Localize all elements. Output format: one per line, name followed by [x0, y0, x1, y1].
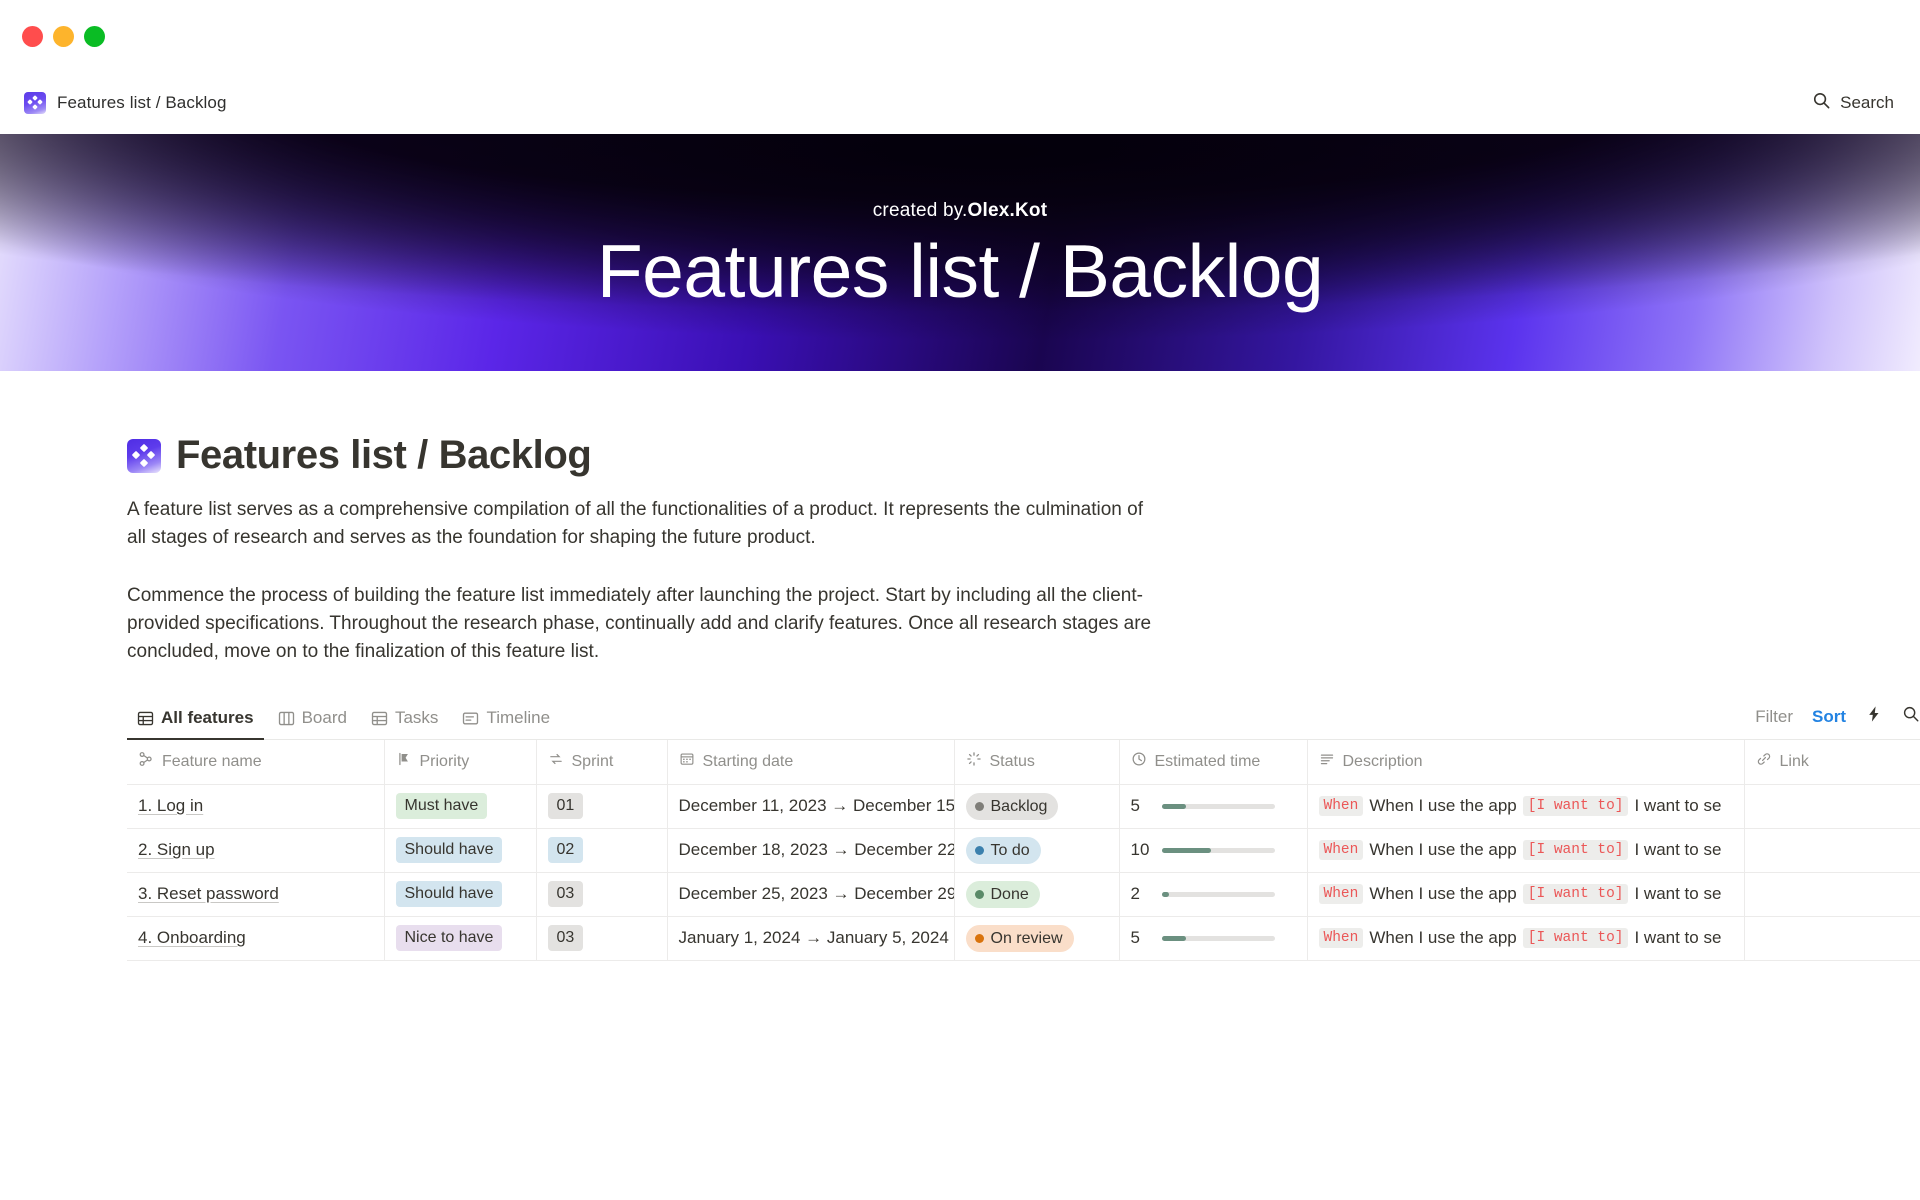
sprint-tag: 03: [548, 881, 584, 907]
cell-priority[interactable]: Should have: [384, 872, 536, 916]
topbar-search-button[interactable]: Search: [1812, 91, 1894, 115]
banner-title: Features list / Backlog: [597, 232, 1323, 311]
text-icon: [1319, 751, 1335, 772]
estimate-progress-bar: [1162, 936, 1275, 941]
cell-feature-name[interactable]: 1. Log in: [127, 784, 384, 828]
status-label: Backlog: [991, 796, 1048, 817]
status-badge: Backlog: [966, 793, 1059, 820]
priority-tag: Should have: [396, 881, 503, 907]
description-text-2: I want to se: [1634, 796, 1721, 816]
breadcrumb[interactable]: Features list / Backlog: [24, 92, 227, 114]
cell-link[interactable]: [1744, 784, 1920, 828]
column-header-label: Starting date: [703, 753, 794, 771]
description-text-2: I want to se: [1634, 840, 1721, 860]
priority-tag: Nice to have: [396, 925, 503, 951]
cell-feature-name[interactable]: 2. Sign up: [127, 828, 384, 872]
column-header-label: Sprint: [572, 753, 614, 771]
flag-icon: [396, 751, 412, 772]
priority-tag: Should have: [396, 837, 503, 863]
description-text-1: When I use the app: [1369, 796, 1516, 816]
status-label: Done: [991, 884, 1029, 905]
page-title: Features list / Backlog: [176, 433, 591, 478]
search-icon[interactable]: [1902, 705, 1920, 728]
table-header-row: Feature name Priority: [127, 740, 1920, 784]
table-row[interactable]: 2. Sign up Should have 02 December 18, 2…: [127, 828, 1920, 872]
cell-starting-date[interactable]: December 25, 2023 → December 29, 2023: [667, 872, 954, 916]
cell-status[interactable]: On review: [954, 916, 1119, 960]
window-titlebar: [0, 0, 1920, 72]
status-badge: To do: [966, 837, 1041, 864]
tab-label: All features: [161, 708, 254, 728]
clock-icon: [1131, 751, 1147, 772]
description-tag-i-want-to: [I want to]: [1523, 928, 1629, 948]
description-tag-i-want-to: [I want to]: [1523, 840, 1629, 860]
traffic-lights: [22, 26, 105, 47]
feature-name-link[interactable]: 1. Log in: [138, 796, 203, 815]
cell-sprint[interactable]: 01: [536, 784, 667, 828]
estimate-value: 2: [1131, 884, 1153, 904]
column-header-label: Description: [1343, 753, 1423, 771]
tab-label: Timeline: [486, 708, 550, 728]
close-window-button[interactable]: [22, 26, 43, 47]
column-header-label: Feature name: [162, 753, 262, 771]
cell-status[interactable]: Done: [954, 872, 1119, 916]
status-dot: [975, 934, 984, 943]
repeat-icon: [548, 751, 564, 772]
feature-name-link[interactable]: 4. Onboarding: [138, 928, 246, 947]
cell-estimated-time[interactable]: 10: [1119, 828, 1307, 872]
estimate-progress-bar: [1162, 804, 1275, 809]
cell-estimated-time[interactable]: 2: [1119, 872, 1307, 916]
cell-estimated-time[interactable]: 5: [1119, 916, 1307, 960]
estimate-value: 10: [1131, 840, 1153, 860]
cell-description[interactable]: When When I use the app [I want to] I wa…: [1307, 784, 1744, 828]
sort-button[interactable]: Sort: [1812, 707, 1846, 727]
description-tag-i-want-to: [I want to]: [1523, 796, 1629, 816]
description-text-1: When I use the app: [1369, 840, 1516, 860]
column-header-starting-date[interactable]: Starting date: [667, 740, 954, 784]
banner-credit-prefix: created by.: [873, 200, 968, 221]
column-header-sprint[interactable]: Sprint: [536, 740, 667, 784]
description-tag-i-want-to: [I want to]: [1523, 884, 1629, 904]
page-title-row: Features list / Backlog: [127, 433, 1920, 478]
cell-priority[interactable]: Nice to have: [384, 916, 536, 960]
status-label: On review: [991, 928, 1063, 949]
tab-label: Board: [302, 708, 347, 728]
link-icon: [1756, 751, 1772, 772]
priority-tag: Must have: [396, 793, 488, 819]
table-row[interactable]: 4. Onboarding Nice to have 03 January 1,…: [127, 916, 1920, 960]
estimate-progress-bar: [1162, 892, 1275, 897]
cell-description[interactable]: When When I use the app [I want to] I wa…: [1307, 828, 1744, 872]
cell-status[interactable]: Backlog: [954, 784, 1119, 828]
estimate-value: 5: [1131, 928, 1153, 948]
status-badge: On review: [966, 925, 1074, 952]
cell-status[interactable]: To do: [954, 828, 1119, 872]
date-range: December 18, 2023 → December 22, 2023: [679, 840, 955, 859]
sprint-tag: 02: [548, 837, 584, 863]
cell-priority[interactable]: Should have: [384, 828, 536, 872]
description-text-1: When I use the app: [1369, 884, 1516, 904]
status-label: To do: [991, 840, 1030, 861]
page-content: Features list / Backlog A feature list s…: [0, 433, 1920, 961]
column-header-description[interactable]: Description: [1307, 740, 1744, 784]
features-list-icon: [127, 439, 161, 473]
estimate-value: 5: [1131, 796, 1153, 816]
column-header-status[interactable]: Status: [954, 740, 1119, 784]
search-label: Search: [1840, 93, 1894, 113]
feature-name-link[interactable]: 2. Sign up: [138, 840, 215, 859]
date-range: January 1, 2024 → January 5, 2024: [679, 928, 949, 947]
column-header-link[interactable]: Link: [1744, 740, 1920, 784]
sprint-tag: 03: [548, 925, 584, 951]
tab-timeline[interactable]: Timeline: [452, 702, 560, 739]
table-row[interactable]: 1. Log in Must have 01 December 11, 2023…: [127, 784, 1920, 828]
page-paragraph-2: Commence the process of building the fea…: [127, 582, 1152, 666]
description-tag-when: When: [1319, 884, 1364, 904]
column-header-label: Estimated time: [1155, 753, 1261, 771]
cell-sprint[interactable]: 03: [536, 916, 667, 960]
view-actions: Filter Sort: [1755, 705, 1920, 739]
cell-feature-name[interactable]: 3. Reset password: [127, 872, 384, 916]
cell-starting-date[interactable]: January 1, 2024 → January 5, 2024: [667, 916, 954, 960]
maximize-window-button[interactable]: [84, 26, 105, 47]
search-icon: [1812, 91, 1831, 115]
description-tag-when: When: [1319, 840, 1364, 860]
cell-sprint[interactable]: 02: [536, 828, 667, 872]
column-header-label: Status: [990, 753, 1035, 771]
table-row[interactable]: 3. Reset password Should have 03 Decembe…: [127, 872, 1920, 916]
cover-banner: created by.Olex.Kot Features list / Back…: [0, 134, 1920, 371]
tab-all-features[interactable]: All features: [127, 702, 264, 739]
calendar-icon: [679, 751, 695, 772]
minimize-window-button[interactable]: [53, 26, 74, 47]
status-dot: [975, 890, 984, 899]
cell-estimated-time[interactable]: 5: [1119, 784, 1307, 828]
column-header-priority[interactable]: Priority: [384, 740, 536, 784]
cell-starting-date[interactable]: December 11, 2023 → December 15, 2023: [667, 784, 954, 828]
tab-board[interactable]: Board: [268, 702, 357, 739]
board-icon: [278, 710, 295, 727]
column-header-label: Link: [1780, 753, 1809, 771]
features-table: Feature name Priority: [127, 740, 1920, 961]
cell-priority[interactable]: Must have: [384, 784, 536, 828]
status-icon: [966, 751, 982, 772]
cell-link[interactable]: [1744, 872, 1920, 916]
estimate-progress-bar: [1162, 848, 1275, 853]
date-range: December 25, 2023 → December 29, 2023: [679, 884, 955, 903]
column-header-label: Priority: [420, 753, 470, 771]
status-dot: [975, 802, 984, 811]
lightning-icon[interactable]: [1865, 705, 1883, 728]
filter-button[interactable]: Filter: [1755, 707, 1793, 727]
breadcrumb-label: Features list / Backlog: [57, 93, 227, 113]
status-dot: [975, 846, 984, 855]
cell-sprint[interactable]: 03: [536, 872, 667, 916]
description-text-2: I want to se: [1634, 884, 1721, 904]
table-icon: [137, 710, 154, 727]
tab-label: Tasks: [395, 708, 438, 728]
banner-credit-author: Olex.Kot: [968, 200, 1048, 221]
cell-description[interactable]: When When I use the app [I want to] I wa…: [1307, 916, 1744, 960]
description-text-1: When I use the app: [1369, 928, 1516, 948]
database-view-bar: All features Board: [127, 702, 1920, 740]
description-tag-when: When: [1319, 928, 1364, 948]
cell-starting-date[interactable]: December 18, 2023 → December 22, 2023: [667, 828, 954, 872]
column-header-feature-name[interactable]: Feature name: [127, 740, 384, 784]
column-header-estimated-time[interactable]: Estimated time: [1119, 740, 1307, 784]
page-paragraph-1: A feature list serves as a comprehensive…: [127, 496, 1152, 552]
cell-feature-name[interactable]: 4. Onboarding: [127, 916, 384, 960]
sprint-tag: 01: [548, 793, 584, 819]
status-badge: Done: [966, 881, 1040, 908]
cell-description[interactable]: When When I use the app [I want to] I wa…: [1307, 872, 1744, 916]
timeline-icon: [462, 710, 479, 727]
view-tabs: All features Board: [127, 702, 560, 739]
date-range: December 11, 2023 → December 15, 2023: [679, 796, 955, 815]
cell-link[interactable]: [1744, 916, 1920, 960]
feature-name-link[interactable]: 3. Reset password: [138, 884, 279, 903]
app-topbar: Features list / Backlog Search: [0, 72, 1920, 134]
features-list-icon: [24, 92, 46, 114]
cell-link[interactable]: [1744, 828, 1920, 872]
tab-tasks[interactable]: Tasks: [361, 702, 448, 739]
relation-icon: [138, 751, 154, 772]
description-text-2: I want to se: [1634, 928, 1721, 948]
banner-credit: created by.Olex.Kot: [873, 200, 1048, 222]
description-tag-when: When: [1319, 796, 1364, 816]
table-icon: [371, 710, 388, 727]
